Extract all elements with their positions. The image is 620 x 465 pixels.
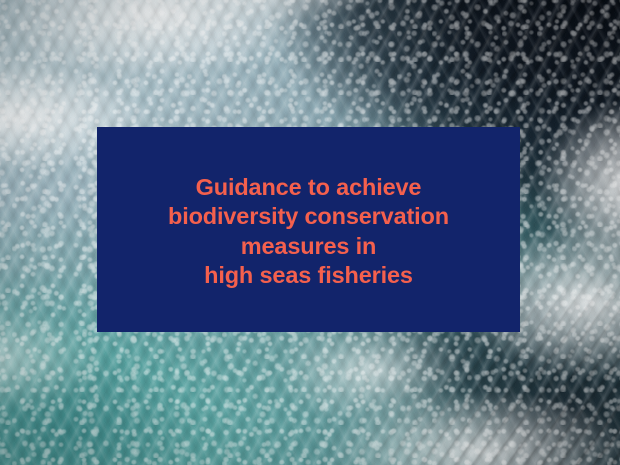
page-title: Guidance to achieve biodiversity conserv… (168, 173, 449, 291)
title-panel: Guidance to achieve biodiversity conserv… (97, 127, 520, 332)
title-card: Guidance to achieve biodiversity conserv… (0, 0, 620, 465)
